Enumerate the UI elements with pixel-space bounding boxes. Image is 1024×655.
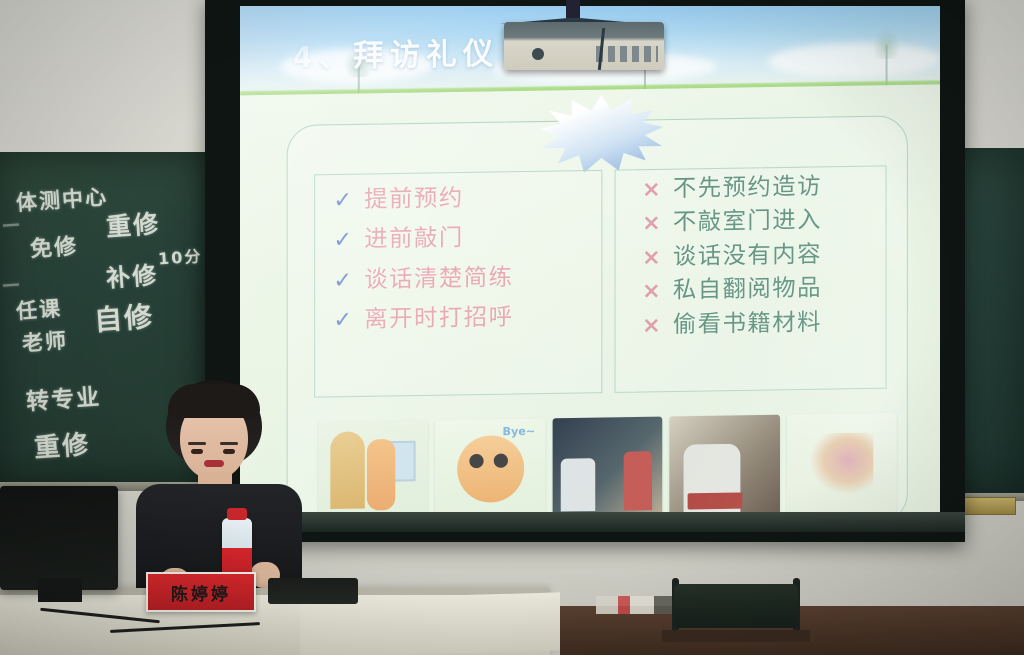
chalk-note: 免修 <box>29 228 79 263</box>
slide-rounded-card: ✓ 提前预约 ✓ 进前敲门 ✓ 谈话清楚简练 ✓ <box>287 115 908 530</box>
cartoon-scolding-illustration <box>787 413 897 514</box>
chalk-note: 转专业 <box>25 377 102 416</box>
presenter-fringe <box>168 384 260 418</box>
woman-reading-book-photo <box>670 415 780 516</box>
chalk-note: 自修 <box>93 295 156 339</box>
nameplate-text: 陈婷婷 <box>171 580 231 605</box>
dont-item-text: 偷看书籍材料 <box>673 311 822 337</box>
audience-chair <box>662 578 810 640</box>
classroom-photo: 体测中心 免修 重修 补修 10分 任课 老师 自修 转专业 重修 — — <box>0 0 1024 655</box>
chalk-note: 任课 <box>15 292 63 325</box>
list-item: × 私自翻阅物品 <box>616 274 886 306</box>
podium-monitor <box>0 486 118 590</box>
do-item-text: 提前预约 <box>364 187 463 212</box>
cross-icon: × <box>642 315 661 338</box>
presenter-nameplate: 陈婷婷 <box>146 572 256 612</box>
chalk-note: 补修 <box>105 255 159 294</box>
slide-title-number: 4、 <box>293 40 353 74</box>
fox-knocking-door-illustration <box>318 420 428 521</box>
office-visit-photo <box>552 417 662 518</box>
dont-item-text: 不敲室门进入 <box>673 209 822 235</box>
chair-base <box>662 630 810 642</box>
do-item-text: 离开时打招呼 <box>364 307 513 333</box>
list-item: ✓ 提前预约 <box>315 183 601 215</box>
projector-mount <box>566 0 580 20</box>
list-item: × 谈话没有内容 <box>616 240 886 272</box>
list-item: × 不先预约造访 <box>616 172 886 204</box>
cross-icon: × <box>642 179 661 202</box>
dont-item-text: 私自翻阅物品 <box>673 277 822 303</box>
bottle-cap <box>227 508 247 520</box>
starburst-icon <box>539 94 663 175</box>
list-item: ✓ 谈话清楚简练 <box>315 263 601 295</box>
do-list-panel: ✓ 提前预约 ✓ 进前敲门 ✓ 谈话清楚简练 ✓ <box>314 170 602 398</box>
tree-silhouette <box>886 45 888 86</box>
chalk-note: 重修 <box>105 204 161 244</box>
do-item-text: 谈话清楚简练 <box>364 267 513 293</box>
check-icon: ✓ <box>333 310 352 333</box>
chalk-stroke: — <box>1 213 22 235</box>
dont-item-text: 谈话没有内容 <box>673 243 822 269</box>
bye-label: Bye~ <box>502 425 535 439</box>
dont-list-panel: × 不先预约造访 × 不敲室门进入 × 谈话没有内容 × <box>615 165 887 393</box>
dont-item-text: 不先预约造访 <box>673 175 822 201</box>
chalk-note: 体测中心 <box>15 181 109 217</box>
projector-lens-icon <box>532 48 544 60</box>
chalk-tray-eraser <box>962 497 1016 515</box>
do-item-text: 进前敲门 <box>364 227 463 252</box>
chair-backrest <box>674 584 798 628</box>
squirrel-waving-illustration: Bye~ <box>435 418 545 519</box>
check-icon: ✓ <box>333 230 352 253</box>
slide-thumbnail-strip: Bye~ <box>318 413 897 522</box>
cross-icon: × <box>642 213 661 236</box>
check-icon: ✓ <box>333 190 352 213</box>
slide-title-text: 拜访礼仪 <box>353 36 499 74</box>
chalk-note: 老师 <box>21 324 69 357</box>
list-item: × 不敲室门进入 <box>616 206 886 238</box>
cross-icon: × <box>642 281 661 304</box>
list-item: ✓ 离开时打招呼 <box>315 303 601 335</box>
presenter-lips <box>204 460 224 467</box>
slide-title: 4、拜访礼仪 <box>293 28 500 76</box>
projector-ports <box>596 46 658 62</box>
chalk-note: 10分 <box>157 242 203 269</box>
cross-icon: × <box>642 247 661 270</box>
ceiling-projector <box>504 22 664 70</box>
list-item: × 偷看书籍材料 <box>616 308 886 340</box>
check-icon: ✓ <box>333 270 352 293</box>
monitor-stand <box>38 578 82 602</box>
chalk-stroke: — <box>1 273 22 295</box>
list-item: ✓ 进前敲门 <box>315 223 601 255</box>
slide-content-area: ✓ 提前预约 ✓ 进前敲门 ✓ 谈话清楚简练 ✓ <box>240 84 940 530</box>
chalk-note: 重修 <box>33 424 91 465</box>
screen-bottom-bar <box>205 512 965 532</box>
projection-screen: ✓ 提前预约 ✓ 进前敲门 ✓ 谈话清楚简练 ✓ <box>240 6 940 530</box>
